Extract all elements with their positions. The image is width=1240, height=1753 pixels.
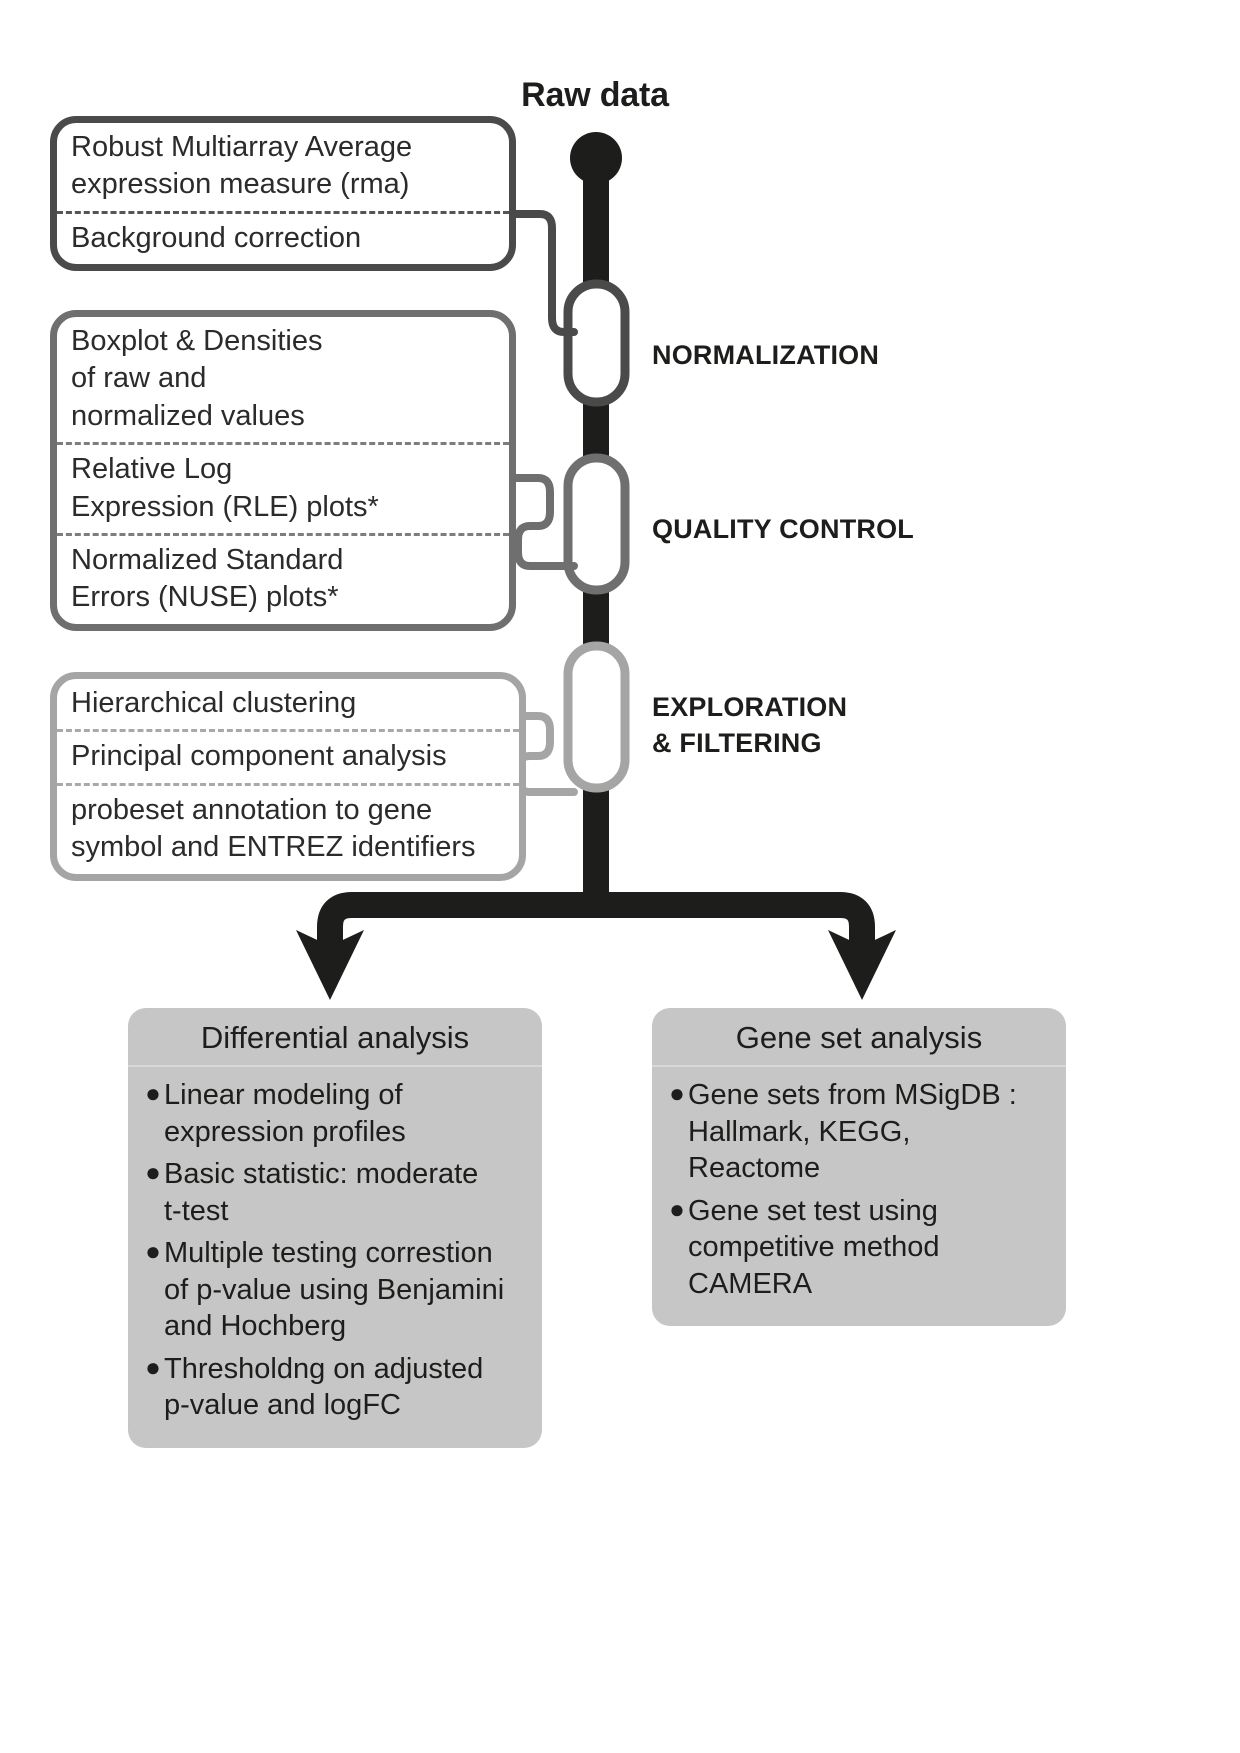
bullet-icon: ● [142,1351,164,1385]
stage-pill-normalization [568,284,625,402]
outcome-bullet-list: ● Linear modeling of expression profiles… [128,1067,542,1448]
stage-pill-quality-control [568,458,625,590]
bullet-icon: ● [142,1235,164,1269]
bullet-icon: ● [142,1156,164,1190]
detail-step: Robust Multiarray Average expression mea… [57,123,509,211]
stage-label-exploration-filtering: EXPLORATION & FILTERING [652,690,847,761]
outcome-title: Differential analysis [128,1008,542,1067]
bullet-icon: ● [666,1193,688,1227]
stage-label-normalization: NORMALIZATION [652,338,879,374]
fork-arrow-right [596,905,862,950]
outcome-card-differential-analysis: Differential analysis ● Linear modeling … [128,1008,542,1448]
outcome-bullet-list: ● Gene sets from MSigDB : Hallmark, KEGG… [652,1067,1066,1326]
stage-label-quality-control: QUALITY CONTROL [652,512,914,548]
fork-arrow-left [330,905,596,950]
page-title: Raw data [430,76,760,115]
list-item-label: Basic statistic: moderate t-test [164,1156,528,1229]
stage-pill-exploration-filtering [568,646,625,788]
detail-box-normalization: Robust Multiarray Average expression mea… [50,116,516,271]
list-item-label: Multiple testing correstion of p-value u… [164,1235,528,1345]
raw-data-node [570,132,622,184]
list-item: ● Linear modeling of expression profiles [142,1077,528,1150]
list-item-label: Linear modeling of expression profiles [164,1077,528,1150]
detail-box-quality-control: Boxplot & Densities of raw and normalize… [50,310,516,631]
list-item: ● Multiple testing correstion of p-value… [142,1235,528,1345]
detail-box-exploration-filtering: Hierarchical clustering Principal compon… [50,672,526,881]
detail-step: Relative Log Expression (RLE) plots* [57,442,509,533]
list-item: ● Thresholdng on adjusted p-value and lo… [142,1351,528,1424]
list-item-label: Gene set test using competitive method C… [688,1193,1052,1303]
outcome-card-gene-set-analysis: Gene set analysis ● Gene sets from MSigD… [652,1008,1066,1326]
list-item: ● Gene sets from MSigDB : Hallmark, KEGG… [666,1077,1052,1187]
detail-step: Boxplot & Densities of raw and normalize… [57,317,509,442]
detail-step: Hierarchical clustering [57,679,519,729]
list-item: ● Basic statistic: moderate t-test [142,1156,528,1229]
bullet-icon: ● [666,1077,688,1111]
list-item: ● Gene set test using competitive method… [666,1193,1052,1303]
detail-step: Normalized Standard Errors (NUSE) plots* [57,533,509,624]
list-item-label: Thresholdng on adjusted p-value and logF… [164,1351,528,1424]
detail-step: probeset annotation to gene symbol and E… [57,783,519,874]
detail-step: Background correction [57,211,509,264]
detail-step: Principal component analysis [57,729,519,782]
outcome-title: Gene set analysis [652,1008,1066,1067]
list-item-label: Gene sets from MSigDB : Hallmark, KEGG, … [688,1077,1052,1187]
bullet-icon: ● [142,1077,164,1111]
